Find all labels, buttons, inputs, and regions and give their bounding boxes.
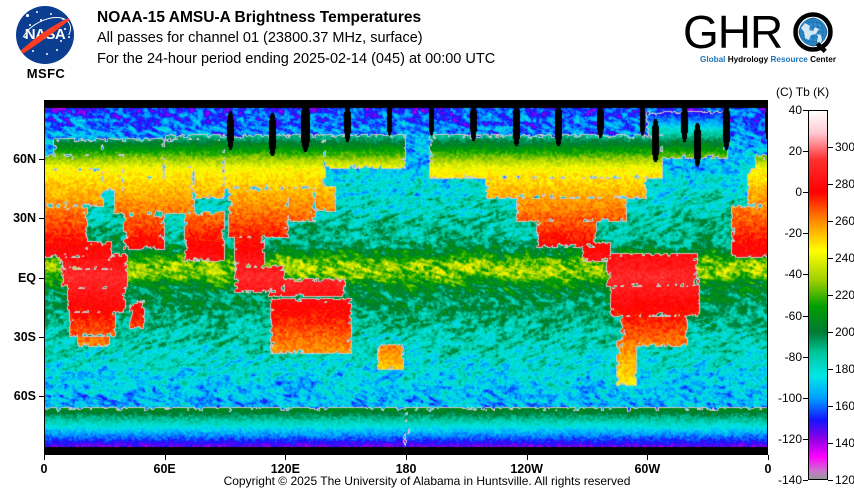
title-block: NOAA-15 AMSU-A Brightness Temperatures A… xyxy=(97,8,495,70)
ghrc-subtitle-word-center: Center xyxy=(810,55,836,64)
colorbar-tick-celsius xyxy=(803,398,808,399)
colorbar-label-kelvin: 260 xyxy=(835,214,854,228)
colorbar-label-celsius: -80 xyxy=(762,350,802,364)
lat-tick xyxy=(39,337,44,338)
colorbar-label-celsius: 40 xyxy=(762,103,802,117)
colorbar-label-celsius: -100 xyxy=(762,391,802,405)
nasa-swoosh-icon xyxy=(16,10,74,60)
colorbar-label-kelvin: 300 xyxy=(835,140,854,154)
copyright-notice: Copyright © 2025 The University of Alaba… xyxy=(0,474,854,488)
ghrc-subtitle: Global Hydrology Resource Center xyxy=(688,55,848,64)
colorbar-tick-kelvin xyxy=(828,184,833,185)
colorbar-label-kelvin: 240 xyxy=(835,251,854,265)
lon-tick xyxy=(406,455,407,460)
nasa-logo: NASA MSFC xyxy=(8,6,84,82)
nasa-star xyxy=(40,19,42,21)
colorbar-tick-kelvin xyxy=(828,369,833,370)
nasa-star xyxy=(46,53,48,55)
lat-label: 30N xyxy=(0,211,36,225)
colorbar-tick-celsius xyxy=(803,110,808,111)
nasa-star xyxy=(60,40,62,42)
colorbar-label-kelvin: 180 xyxy=(835,362,854,376)
colorbar-label-celsius: -60 xyxy=(762,309,802,323)
nasa-star xyxy=(62,18,64,20)
lat-tick xyxy=(39,396,44,397)
lon-tick xyxy=(768,455,769,460)
colorbar-label-celsius: 20 xyxy=(762,144,802,158)
nasa-star xyxy=(24,36,26,38)
colorbar xyxy=(808,110,828,480)
nasa-meatball-icon: NASA xyxy=(16,6,74,64)
colorbar-label-kelvin: 220 xyxy=(835,288,854,302)
nasa-star xyxy=(29,24,31,26)
ghrc-subtitle-word-hydrology: Hydrology xyxy=(728,55,771,64)
colorbar-label-kelvin: 200 xyxy=(835,325,854,339)
colorbar-tick-celsius xyxy=(803,151,808,152)
lat-tick xyxy=(39,218,44,219)
colorbar-label-celsius: -20 xyxy=(762,226,802,240)
colorbar-label-kelvin: 280 xyxy=(835,177,854,191)
lat-label: EQ xyxy=(0,271,36,285)
lat-label: 60S xyxy=(0,389,36,403)
lat-label: 30S xyxy=(0,330,36,344)
colorbar-tick-celsius xyxy=(803,357,808,358)
lat-tick xyxy=(39,278,44,279)
colorbar-label-celsius: -120 xyxy=(762,432,802,446)
colorbar-label-kelvin: 160 xyxy=(835,399,854,413)
lon-tick xyxy=(285,455,286,460)
colorbar-tick-celsius xyxy=(803,439,808,440)
ghrc-subtitle-word-global: Global xyxy=(700,55,728,64)
colorbar-label-celsius: 0 xyxy=(762,185,802,199)
nasa-star xyxy=(36,11,38,13)
colorbar-tick-kelvin xyxy=(828,295,833,296)
lat-tick xyxy=(39,159,44,160)
lon-tick xyxy=(527,455,528,460)
lon-tick xyxy=(647,455,648,460)
ghrc-subtitle-word-resource: Resource xyxy=(770,55,810,64)
colorbar-tick-celsius xyxy=(803,192,808,193)
nasa-star xyxy=(26,14,29,17)
colorbar-tick-kelvin xyxy=(828,332,833,333)
colorbar-tick-kelvin xyxy=(828,147,833,148)
colorbar-label-kelvin: 140 xyxy=(835,436,854,450)
map-raster xyxy=(44,100,768,455)
ghrc-wordmark-icon: GHR xyxy=(683,8,848,56)
colorbar-tick-celsius xyxy=(803,233,808,234)
colorbar-header: (C) Tb (K) xyxy=(776,85,829,99)
page-title: NOAA-15 AMSU-A Brightness Temperatures xyxy=(97,8,495,28)
lon-tick xyxy=(165,455,166,460)
colorbar-tick-kelvin xyxy=(828,221,833,222)
nasa-star xyxy=(68,36,70,38)
colorbar-tick-kelvin xyxy=(828,258,833,259)
colorbar-tick-kelvin xyxy=(828,443,833,444)
colorbar-tick-celsius xyxy=(803,316,808,317)
lon-tick xyxy=(44,455,45,460)
nasa-star xyxy=(56,49,58,51)
period-subtitle: For the 24-hour period ending 2025-02-14… xyxy=(97,49,495,70)
channel-subtitle: All passes for channel 01 (23800.37 MHz,… xyxy=(97,28,495,49)
ghrc-logo: GHR Global Hydrology Resource Center xyxy=(683,8,848,74)
brightness-temperature-map[interactable] xyxy=(44,100,768,455)
svg-text:GHR: GHR xyxy=(683,8,782,56)
colorbar-tick-celsius xyxy=(803,274,808,275)
lat-label: 60N xyxy=(0,152,36,166)
colorbar-tick-kelvin xyxy=(828,406,833,407)
nasa-center-label: MSFC xyxy=(8,66,84,81)
colorbar-label-celsius: -40 xyxy=(762,267,802,281)
